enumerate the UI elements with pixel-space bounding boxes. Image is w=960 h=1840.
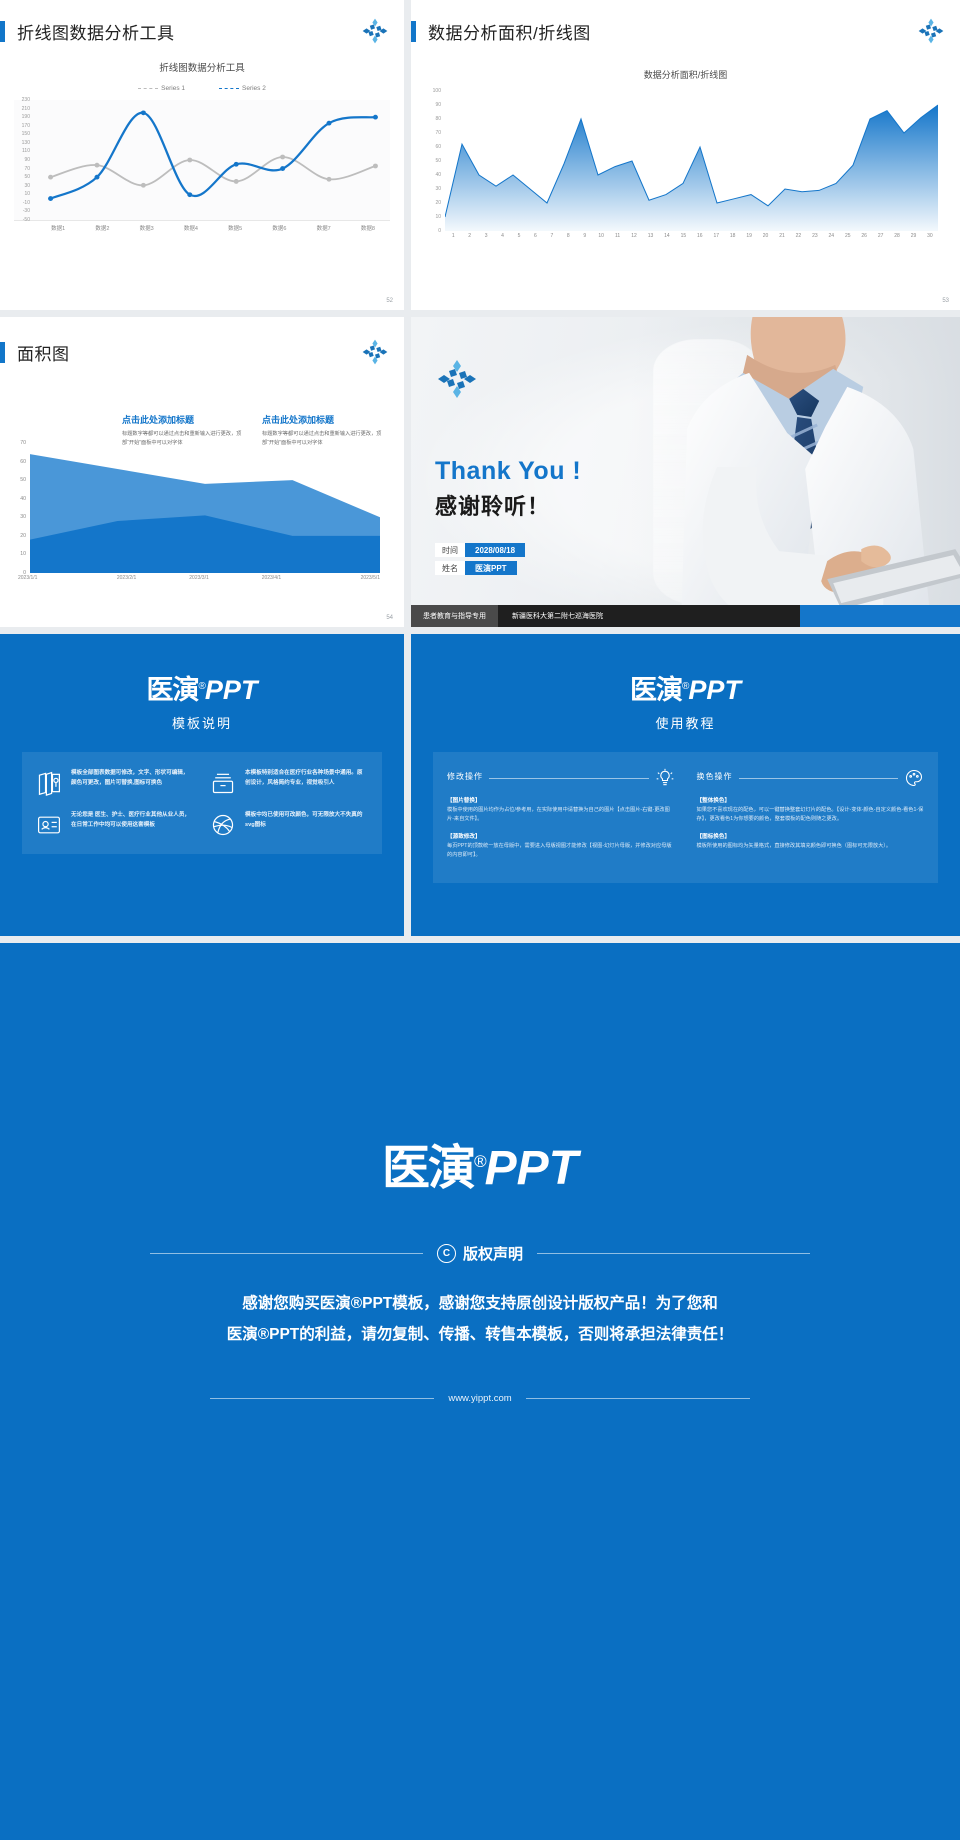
chart2-ytick: 90 (425, 102, 441, 108)
chart2-xtick: 4 (494, 233, 510, 239)
tutorial-block-title: 【整体换色】 (697, 796, 925, 804)
divider-left (210, 1398, 434, 1399)
thankyou-footer-bar: 患者教育与指导专用 新疆医科大第二附七巡海医院 (411, 605, 960, 627)
copyright-brand-block: 医演®PPT (0, 1128, 960, 1198)
feature-text: 本模板特别适合在医疗行业各种场景中通用。原创设计，风格简约专业，视觉吸引人 (245, 768, 368, 796)
chart2-xtick: 9 (577, 233, 593, 239)
tutorial-heading: 换色操作 (697, 771, 733, 782)
copyright-label-group: C 版权声明 (437, 1243, 523, 1264)
slide-thank-you: Thank You ! 感谢聆听！ 时间 2028/08/18 姓名 医演PPT… (411, 317, 960, 627)
chart3-ytick: 40 (10, 496, 26, 502)
slide3-title: 面积图 (17, 340, 70, 365)
user-card-icon (36, 812, 62, 838)
legend-label-series1: Series 1 (161, 85, 185, 92)
tutorial-block-title: 【图标换色】 (697, 832, 925, 840)
chart2-xtick: 25 (840, 233, 856, 239)
chart1-ytick: -10 (14, 200, 30, 206)
chart2-xtick: 8 (560, 233, 576, 239)
chart2-ytick: 50 (425, 158, 441, 164)
feature-text: 无论您是 医生、护士、医疗行业其他从业人员，在日常工作中均可以使用这套模板 (71, 810, 194, 838)
tutorial-block-body: 模板中使用的图片均作为占位/参考用，在实际使用中请替换为自己的图片【点击图片-右… (447, 806, 675, 825)
tutorial-columns: 修改操作 【图片替换】 模板中使用 (447, 768, 924, 867)
chart3-plot-area: 70 60 50 40 30 20 10 0 (30, 443, 380, 573)
copyright-content: 医演®PPT C 版权声明 感谢您购买医演®PPT模板，感谢您支持原创设计版权产… (0, 943, 960, 1840)
thankyou-chinese-heading: 感谢聆听！ (435, 489, 550, 521)
slide-line-chart: 折线图数据分析工具 折线图数据分析工具 Series 1 (0, 0, 404, 310)
chart2-ytick: 10 (425, 214, 441, 220)
chart2-xtick: 20 (757, 233, 773, 239)
chart2-xtick: 18 (724, 233, 740, 239)
presentation-sheet: 折线图数据分析工具 折线图数据分析工具 Series 1 (0, 0, 960, 1840)
slide3-header: 面积图 (0, 317, 404, 365)
chart2-xtick: 16 (692, 233, 708, 239)
brand-ppt: PPT (485, 1142, 578, 1195)
meta-key-date: 时间 (435, 543, 465, 557)
chart2-ytick: 60 (425, 144, 441, 150)
chart3-xtick: 2023/3/1 (163, 575, 235, 581)
chart3-series-canvas (30, 443, 380, 573)
chart1-legend: Series 1 Series 2 (0, 85, 404, 92)
chart3-ytick: 70 (10, 440, 26, 446)
chart1-xtick: 数据5 (213, 224, 257, 232)
tutorial-column-header: 修改操作 (447, 768, 675, 788)
chart2-xtick: 23 (807, 233, 823, 239)
chart1-x-axis: 数据1 数据2 数据3 数据4 数据5 数据6 数据7 数据8 (36, 224, 390, 232)
meta-value-date: 2028/08/18 (465, 543, 525, 557)
thankyou-english-heading: Thank You ! (435, 457, 581, 486)
chart1-xtick: 数据2 (80, 224, 124, 232)
chart1-ytick: 130 (14, 140, 30, 146)
chart1-xtick: 数据4 (169, 224, 213, 232)
feature-text: 模板全部图表数据可修改，文字、形状可编辑，颜色可更改，图片可替换,图标可换色 (71, 768, 194, 796)
meta-key-name: 姓名 (435, 561, 465, 575)
chart1-ytick: 110 (14, 148, 30, 154)
chart2-xtick: 28 (889, 233, 905, 239)
divider (489, 778, 649, 779)
template-info-panel: 模板全部图表数据可修改，文字、形状可编辑，颜色可更改，图片可替换,图标可换色 本… (22, 752, 382, 854)
chart2-ytick: 100 (425, 88, 441, 94)
chart1-xtick: 数据8 (346, 224, 390, 232)
slide1-header: 折线图数据分析工具 (0, 0, 404, 44)
feature-item: 模板中均已使用可改颜色，可无限放大不失真的svg图标 (210, 810, 368, 838)
chart2-xtick: 5 (511, 233, 527, 239)
title-accent-bar (411, 21, 416, 42)
dribbble-icon (210, 812, 236, 838)
chart3-ytick: 10 (10, 551, 26, 557)
thankyou-meta-row-name: 姓名 医演PPT (435, 561, 517, 575)
brand-ppt: PPT (688, 675, 741, 705)
divider-right (526, 1398, 750, 1399)
chart1-ytick: 170 (14, 123, 30, 129)
tutorial-column-color: 换色操作 【整体换色】 如果您不喜欢现在的配色，可以一键替换整套幻灯片的配色。【… (697, 768, 925, 867)
chart2-plot-area: 100 90 80 70 60 50 40 30 20 10 0 (445, 91, 938, 231)
chart1-ytick: -30 (14, 208, 30, 214)
chart3-ytick: 30 (10, 514, 26, 520)
chart2-xtick: 22 (790, 233, 806, 239)
copyright-line-2: 医演®PPT的利益，请勿复制、传播、转售本模板，否则将承担法律责任！ (130, 1319, 830, 1350)
chart2-series-canvas (445, 91, 938, 231)
chart3-xtick: 2023/5/1 (308, 575, 380, 581)
feature-item: 模板全部图表数据可修改，文字、形状可编辑，颜色可更改，图片可替换,图标可换色 (36, 768, 194, 796)
legend-swatch-series1 (138, 88, 158, 89)
tutorial-block: 【整体换色】 如果您不喜欢现在的配色，可以一键替换整套幻灯片的配色。【设计-变体… (697, 796, 925, 851)
website-url: www.yippt.com (448, 1393, 511, 1404)
chart1-ytick: 230 (14, 97, 30, 103)
slide-copyright: 医演®PPT C 版权声明 感谢您购买医演®PPT模板，感谢您支持原创设计版权产… (0, 943, 960, 1840)
archive-icon (210, 770, 236, 796)
thankyou-meta-row-date: 时间 2028/08/18 (435, 543, 525, 557)
brand-wordmark: 医演®PPT (0, 1128, 960, 1198)
tutorial-block-body: 如果您不喜欢现在的配色，可以一键替换整套幻灯片的配色。【设计-变体-颜色-自定义… (697, 806, 925, 825)
footer-accent-block (800, 605, 960, 627)
chart2-xtick: 3 (478, 233, 494, 239)
brand-ppt: PPT (205, 675, 258, 705)
chart2-xtick: 27 (872, 233, 888, 239)
chart3-xtick: 2023/4/1 (235, 575, 307, 581)
slide2-header: 数据分析面积/折线图 (411, 0, 960, 44)
brand-cn: 医演 (382, 1142, 474, 1195)
chart2-xtick: 14 (659, 233, 675, 239)
slide3-page-number: 54 (386, 615, 393, 621)
template-info-brand-block: 医演®PPT 模板说明 (0, 634, 404, 732)
chart3-x-axis: 2023/1/1 2023/2/1 2023/3/1 2023/4/1 2023… (18, 575, 380, 581)
divider-right (537, 1253, 810, 1254)
legend-swatch-series2 (219, 88, 239, 89)
chart1-xtick: 数据1 (36, 224, 80, 232)
chart2-ytick: 40 (425, 172, 441, 178)
tutorial-panel: 修改操作 【图片替换】 模板中使用 (433, 752, 938, 883)
legend-label-series2: Series 2 (242, 85, 266, 92)
tutorial-block-title: 【图片替换】 (447, 796, 675, 804)
chart2-ytick: 0 (425, 228, 441, 234)
brand-registered-mark: ® (474, 1152, 485, 1171)
copyright-divider-with-label: C 版权声明 (150, 1243, 810, 1264)
tutorial-column-header: 换色操作 (697, 768, 925, 788)
brand-cn: 医演 (147, 675, 199, 705)
chart1-ytick: 10 (14, 191, 30, 197)
medical-cross-logo-icon (362, 18, 388, 44)
tutorial-column-edit: 修改操作 【图片替换】 模板中使用 (447, 768, 675, 867)
chart1-ytick: 190 (14, 114, 30, 120)
legend-item-series1: Series 1 (138, 85, 185, 92)
chart2-xtick: 24 (823, 233, 839, 239)
slide2-page-number: 53 (942, 298, 949, 304)
tutorial-subtitle: 使用教程 (411, 713, 960, 732)
tutorial-brand-block: 医演®PPT 使用教程 (411, 634, 960, 732)
footer-label-left: 患者教育与指导专用 (411, 605, 498, 627)
slide-template-info: 医演®PPT 模板说明 模板全部图表数据可修改，文字、形状可编辑，颜色可更改，图… (0, 634, 404, 936)
slide-stacked-area-chart: 面积图 点击此处添加标题 标题数字等都可以通过点击和 (0, 317, 404, 627)
chart3-xtick: 2023/1/1 (18, 575, 90, 581)
palette-icon (904, 768, 924, 788)
chart1-ytick: 50 (14, 174, 30, 180)
feature-text: 模板中均已使用可改颜色，可无限放大不失真的svg图标 (245, 810, 368, 838)
medical-cross-logo-icon (362, 339, 388, 365)
legend-item-series2: Series 2 (219, 85, 266, 92)
chart1-xtick: 数据6 (257, 224, 301, 232)
chart2-xtick: 2 (461, 233, 477, 239)
chart2-xtick: 11 (609, 233, 625, 239)
chart1-ytick: 70 (14, 166, 30, 172)
chart2-xtick: 13 (642, 233, 658, 239)
slide-tutorial: 医演®PPT 使用教程 修改操作 (411, 634, 960, 936)
tutorial-heading: 修改操作 (447, 771, 483, 782)
chart3-wrapper: 点击此处添加标题 标题数字等都可以通过点击和重新输入进行更改，顶部“开始”面板中… (0, 369, 404, 581)
chart2-ytick: 70 (425, 130, 441, 136)
chart2-xtick: 1 (445, 233, 461, 239)
copyright-icon: C (437, 1244, 456, 1263)
copyright-label: 版权声明 (463, 1243, 523, 1264)
copyright-url-divider: www.yippt.com (210, 1393, 750, 1404)
chart1-plot-area: 230 210 190 170 150 130 110 90 70 50 30 … (14, 100, 390, 221)
chart3-xtick: 2023/2/1 (90, 575, 162, 581)
divider-left (150, 1253, 423, 1254)
copyright-line-1: 感谢您购买医演®PPT模板，感谢您支持原创设计版权产品！为了您和 (130, 1288, 830, 1319)
feature-grid: 模板全部图表数据可修改，文字、形状可编辑，颜色可更改，图片可替换,图标可换色 本… (36, 768, 368, 838)
chart1-ytick: 90 (14, 157, 30, 163)
chart2-title: 数据分析面积/折线图 (411, 68, 960, 81)
chart3-ytick: 60 (10, 459, 26, 465)
thankyou-background: Thank You ! 感谢聆听！ 时间 2028/08/18 姓名 医演PPT… (411, 317, 960, 627)
title-accent-bar (0, 342, 5, 363)
chart1-xtick: 数据3 (125, 224, 169, 232)
chart2-ytick: 80 (425, 116, 441, 122)
chart2-xtick: 15 (675, 233, 691, 239)
tutorial-block-body: 模板所使用的图标均为矢量格式，直接修改其填充颜色即可换色（图标可无限放大）。 (697, 842, 925, 851)
chart1-ytick: -50 (14, 217, 30, 223)
tutorial-block: 【图片替换】 模板中使用的图片均作为占位/参考用，在实际使用中请替换为自己的图片… (447, 796, 675, 860)
title-accent-bar (0, 21, 5, 42)
chart2-ytick: 30 (425, 186, 441, 192)
brand-wordmark: 医演®PPT (0, 668, 404, 707)
medical-cross-logo-icon (437, 359, 477, 404)
chart2-xtick: 19 (741, 233, 757, 239)
chart2-xtick: 17 (708, 233, 724, 239)
chart2-xtick: 10 (593, 233, 609, 239)
feature-item: 本模板特别适合在医疗行业各种场景中通用。原创设计，风格简约专业，视觉吸引人 (210, 768, 368, 796)
chart1-series-canvas (36, 100, 390, 220)
brand-cn: 医演 (630, 675, 682, 705)
chart2-xtick: 26 (856, 233, 872, 239)
tutorial-block-title: 【源致修改】 (447, 832, 675, 840)
chart2-x-axis: 1234567891011121314151617181920212223242… (445, 233, 938, 239)
chart1-xtick: 数据7 (302, 224, 346, 232)
chart2-xtick: 21 (774, 233, 790, 239)
template-info-subtitle: 模板说明 (0, 713, 404, 732)
chart2-xtick: 7 (544, 233, 560, 239)
chart3-ytick: 0 (10, 570, 26, 576)
medical-cross-logo-icon (918, 18, 944, 44)
footer-label-right: 新疆医科大第二附七巡海医院 (498, 605, 800, 627)
chart1-ytick: 30 (14, 183, 30, 189)
chart1-ytick: 210 (14, 106, 30, 112)
chart2-ytick: 20 (425, 200, 441, 206)
slides-icon (36, 770, 62, 796)
chart1-title: 折线图数据分析工具 (0, 60, 404, 74)
divider (739, 778, 899, 779)
chart3-ytick: 50 (10, 477, 26, 483)
bulb-icon (655, 768, 675, 788)
chart2-xtick: 30 (922, 233, 938, 239)
meta-value-name: 医演PPT (465, 561, 517, 575)
chart2-xtick: 6 (527, 233, 543, 239)
copyright-statement: 感谢您购买医演®PPT模板，感谢您支持原创设计版权产品！为了您和 医演®PPT的… (130, 1288, 830, 1350)
doctor-photo (631, 317, 960, 627)
slide1-title: 折线图数据分析工具 (17, 19, 175, 44)
slide2-title: 数据分析面积/折线图 (428, 19, 591, 44)
slide1-page-number: 52 (386, 298, 393, 304)
chart2-xtick: 29 (905, 233, 921, 239)
feature-item: 无论您是 医生、护士、医疗行业其他从业人员，在日常工作中均可以使用这套模板 (36, 810, 194, 838)
brand-wordmark: 医演®PPT (411, 668, 960, 707)
tutorial-block-body: 每页PPT的顶款统一放在母版中，需要进入母版视图才能修改【视图-幻灯片母版，并修… (447, 842, 675, 861)
chart1-ytick: 150 (14, 131, 30, 137)
chart3-ytick: 20 (10, 533, 26, 539)
annotation-card-title: 点击此处添加标题 (262, 413, 384, 426)
slide-area-line-chart: 数据分析面积/折线图 数据分析面积/折线图 100 90 80 7 (411, 0, 960, 310)
chart2-xtick: 12 (626, 233, 642, 239)
annotation-card-title: 点击此处添加标题 (122, 413, 244, 426)
